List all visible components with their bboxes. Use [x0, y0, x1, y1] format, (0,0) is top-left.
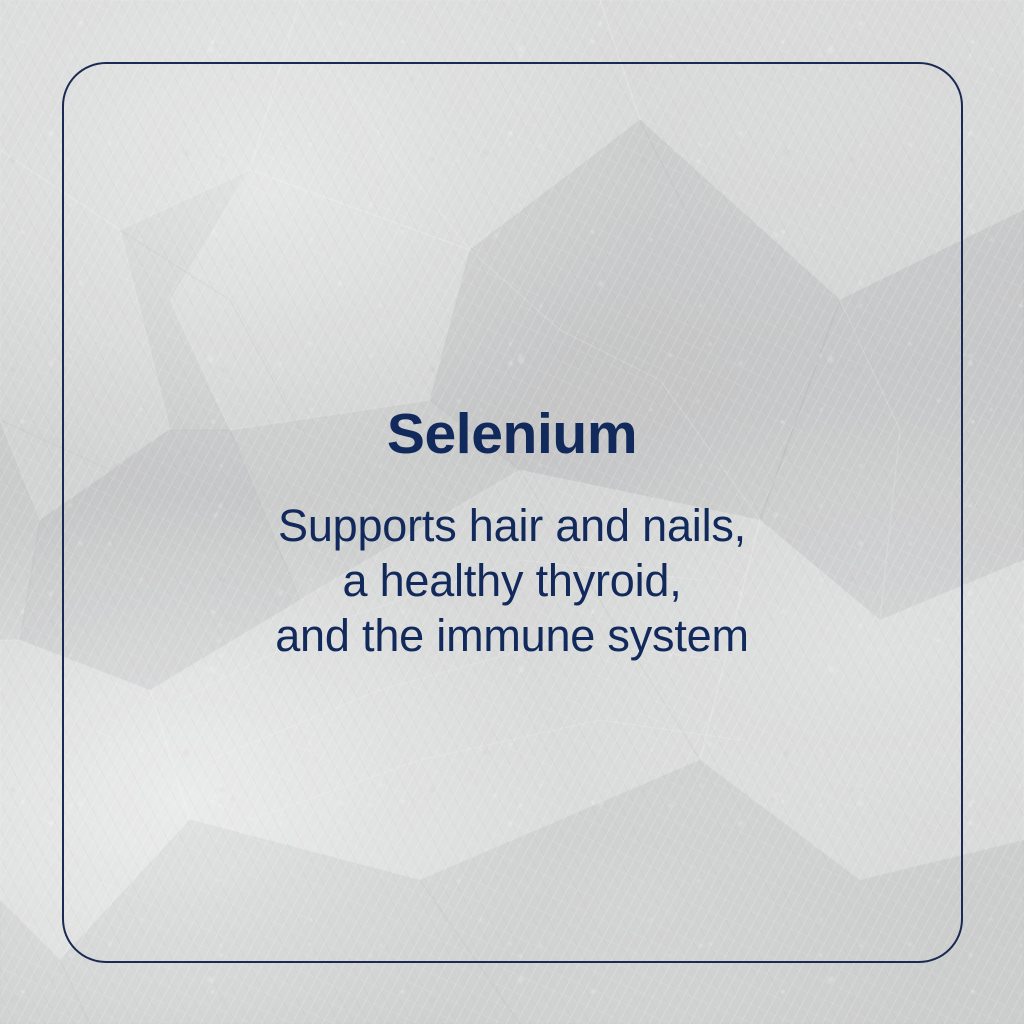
card-text-block: Selenium Supports hair and nails, a heal… — [0, 406, 1024, 664]
card-description: Supports hair and nails, a healthy thyro… — [0, 499, 1024, 664]
description-line-2: a healthy thyroid, — [0, 554, 1024, 609]
description-line-3: and the immune system — [0, 609, 1024, 664]
infographic-card: Selenium Supports hair and nails, a heal… — [0, 0, 1024, 1024]
page-title: Selenium — [0, 406, 1024, 463]
description-line-1: Supports hair and nails, — [0, 499, 1024, 554]
